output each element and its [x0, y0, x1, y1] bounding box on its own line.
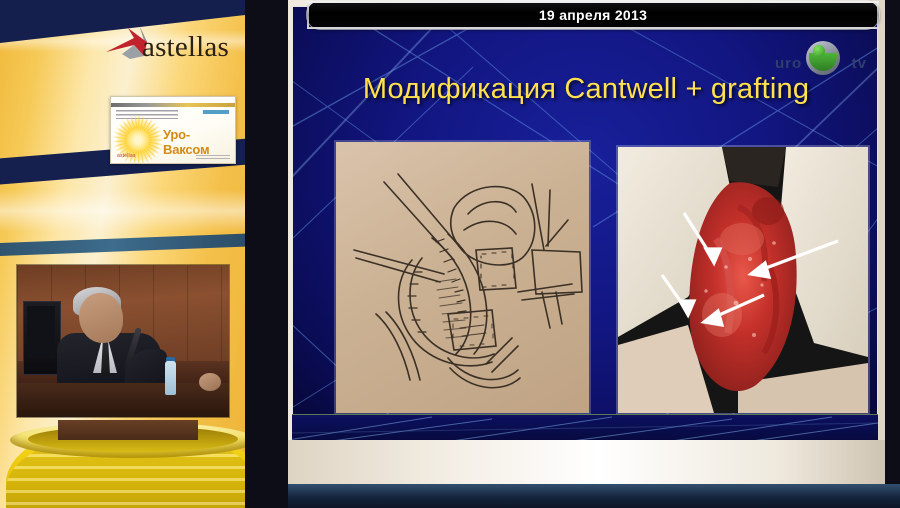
slide-footer-band [292, 414, 878, 441]
ad-top-rule [111, 103, 235, 107]
speaker-hand [199, 373, 221, 391]
slide-lower-frame [288, 440, 885, 484]
ad-footnote-lines [196, 155, 230, 159]
presentation-slide: uro tv Модификация Cantwell + grafting [292, 6, 878, 440]
speaker-video-feed[interactable] [17, 265, 229, 417]
broadcast-stage: astellas Уро-Ваксом astellas [0, 0, 900, 508]
uro-vaxom-product-ad: Уро-Ваксом astellas [110, 96, 236, 164]
yellow-bowl-graphic [6, 420, 245, 508]
water-bottle [165, 361, 176, 395]
surgical-technique-illustration [336, 142, 589, 413]
gold-highlight-band-2 [0, 190, 245, 232]
illustration-drawing [336, 142, 589, 413]
speaker-head [79, 293, 123, 343]
footer-band-lines [292, 415, 878, 441]
sponsor-sidebar: astellas Уро-Ваксом astellas [0, 0, 245, 508]
bowl-podium-block [58, 420, 198, 440]
bottom-status-bar [288, 484, 900, 508]
ad-brand-footer: astellas [117, 153, 136, 159]
surgery-photo-content [618, 147, 868, 413]
monitor-screen [27, 306, 55, 358]
astellas-wordmark: astellas [142, 33, 229, 62]
steel-wave-stripe [0, 231, 245, 257]
slide-title: Модификация Cantwell + grafting [293, 73, 878, 106]
urotv-green-dot-icon [813, 45, 825, 57]
ad-fineprint-right [203, 110, 229, 114]
uro-vaxom-product-name: Уро-Ваксом [163, 127, 235, 157]
astellas-logo: astellas [104, 26, 236, 70]
urotv-left-text: uro [775, 55, 802, 72]
intraoperative-photograph [618, 147, 868, 413]
broadcast-date-text: 19 апреля 2013 [539, 7, 647, 23]
presenter-monitor [23, 301, 61, 375]
podium-desk [17, 383, 229, 417]
urotv-right-text: tv [852, 55, 867, 72]
broadcast-date-banner: 19 апреля 2013 [307, 1, 879, 29]
